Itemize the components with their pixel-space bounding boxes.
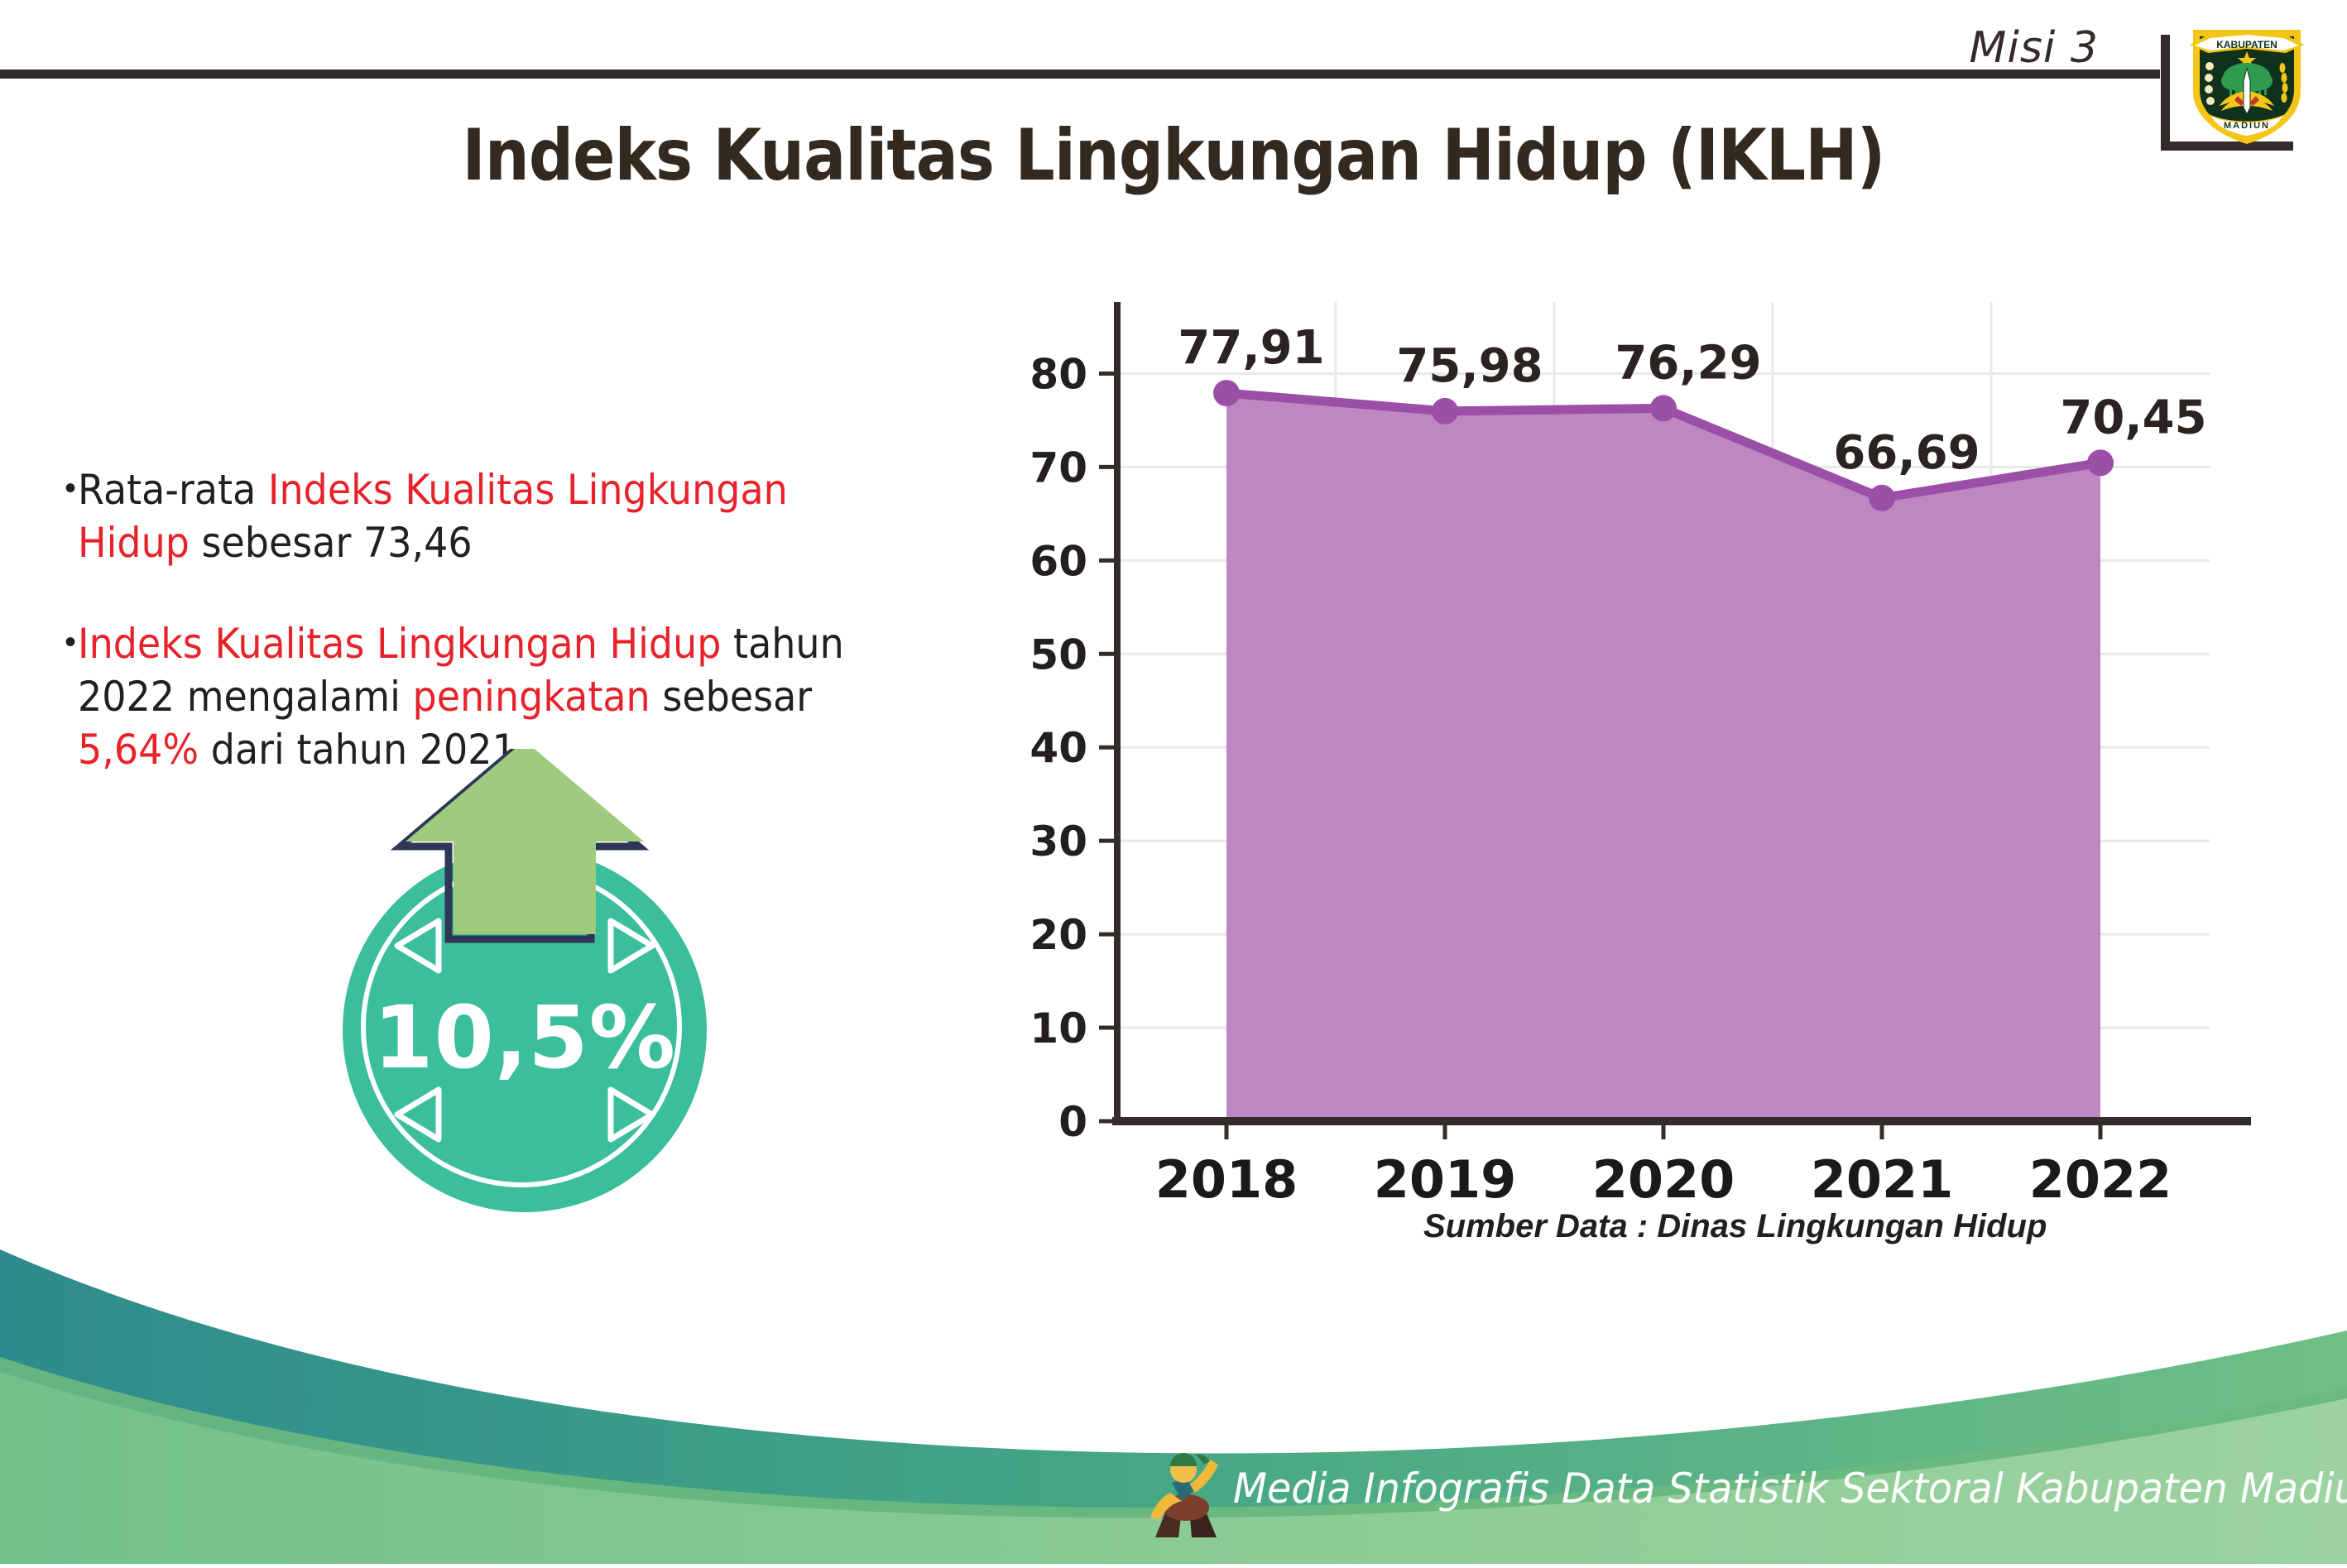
data-point-marker [1869, 485, 1895, 511]
chart-canvas: 01020304050607080 20182019202020212022 7… [977, 294, 2251, 1270]
chart-area-series [1226, 393, 2100, 1121]
y-tick-label: 70 [1030, 444, 1087, 491]
y-tick-label: 30 [1030, 818, 1087, 866]
data-label: 70,45 [2060, 391, 2206, 444]
bullet-dot-icon: • [65, 463, 76, 506]
iklh-area-chart: 01020304050607080 20182019202020212022 7… [977, 294, 2251, 1270]
bullet-segment-0: Indeks Kualitas Lingkungan Hidup [78, 620, 721, 668]
list-item: • Rata-rata Indeks Kualitas Lingkungan H… [65, 463, 958, 569]
y-tick-label: 20 [1030, 911, 1087, 959]
data-point-marker [2087, 449, 2114, 476]
chart-x-tick-labels: 20182019202020212022 [1155, 1149, 2172, 1210]
data-label: 75,98 [1396, 339, 1543, 393]
misi-label: Misi 3 [1970, 23, 2099, 73]
badge-value: 10,5% [343, 987, 707, 1088]
y-tick-label: 0 [1058, 1098, 1087, 1146]
area-fill [1226, 393, 2100, 1121]
x-tick-label: 2021 [1811, 1149, 1954, 1210]
y-tick-label: 10 [1030, 1005, 1087, 1053]
bullet-segment-3: sebesar [650, 673, 812, 721]
data-point-marker [1650, 395, 1677, 421]
x-tick-label: 2019 [1374, 1149, 1517, 1210]
logo-bottom-text: MADIUN [2224, 121, 2270, 131]
x-tick-label: 2020 [1592, 1149, 1735, 1210]
header-divider-rule [0, 70, 2160, 79]
logo-top-text: KABUPATEN [2216, 39, 2277, 50]
data-point-marker [1432, 398, 1458, 424]
x-tick-label: 2022 [2029, 1149, 2172, 1210]
bullet-segment-4: 5,64% [78, 726, 199, 774]
y-tick-label: 80 [1030, 350, 1087, 398]
page-footer: Media Infografis Data Statistik Sektoral… [0, 1233, 2347, 1564]
data-label: 77,91 [1178, 321, 1324, 375]
x-tick-label: 2018 [1155, 1149, 1298, 1210]
y-tick-label: 50 [1030, 631, 1087, 679]
page-title: Indeks Kualitas Lingkungan Hidup (IKLH) [141, 114, 2206, 197]
media-infografis-logo-icon [1140, 1431, 1231, 1539]
bullet-segment-0: Rata-rata [78, 466, 268, 514]
bullet-dot-icon: • [65, 617, 76, 659]
data-label: 66,69 [1833, 426, 1980, 480]
footer-text: Media Infografis Data Statistik Sektoral… [1233, 1465, 2347, 1513]
chart-y-tick-labels: 01020304050607080 [1030, 350, 1087, 1146]
y-tick-label: 60 [1030, 537, 1087, 585]
data-point-marker [1213, 380, 1240, 406]
bullet-segment-2: sebesar 73,46 [190, 519, 473, 567]
increase-badge: 10,5% [329, 749, 743, 1212]
y-tick-label: 40 [1030, 724, 1087, 772]
data-label: 76,29 [1615, 336, 1761, 390]
bullet-text-0: Rata-rata Indeks Kualitas Lingkungan Hid… [78, 463, 888, 569]
bullet-segment-2: peningkatan [413, 673, 650, 721]
